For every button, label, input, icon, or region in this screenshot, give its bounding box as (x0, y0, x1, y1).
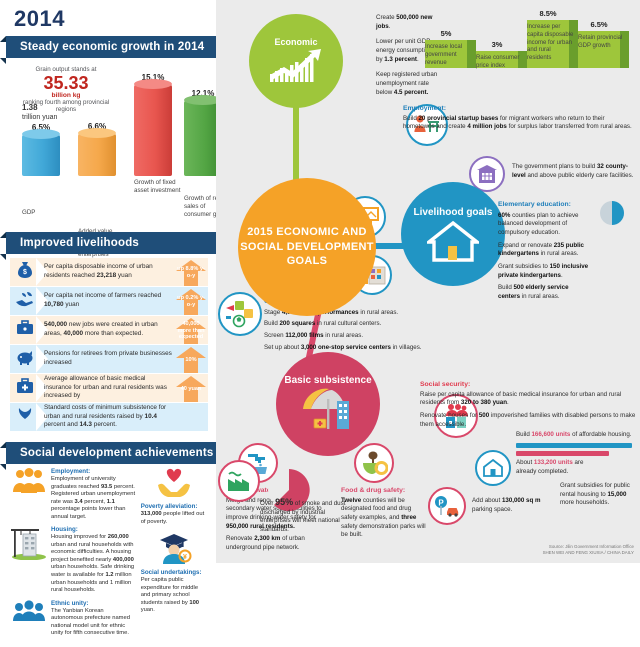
bar-fixed-asset: 15.1% Growth of fixed asset investment (134, 73, 172, 176)
education-point: Grant subsidies to 150 inclusive private… (498, 263, 590, 280)
section-body-social-development: Employment:Employment of university grad… (0, 464, 216, 647)
culture-point: Build 200 squares in rural cultural cent… (264, 320, 484, 329)
culture-point: Set up about 3,000 one-stop service cent… (264, 344, 484, 353)
social-block-heading: Ethnic unity: (51, 600, 137, 608)
node-industry-icon[interactable] (218, 460, 260, 502)
target-bar-gdp: 6.5% Retain provincial GDP growth (578, 31, 620, 68)
node-basic-subsistence[interactable]: Basic subsistence (276, 352, 380, 456)
employment-text: Employment: Build 20 provincial startup … (403, 104, 635, 132)
social-block: ¥Social undertakings:Per capita public e… (141, 532, 208, 615)
culture-health-icon (225, 300, 255, 328)
livelihood-row-text: Pensions for retirees from private busin… (40, 350, 174, 367)
food-drug-heading: Food & drug safety: (341, 487, 405, 494)
heart-hands-icon (141, 468, 208, 503)
parking-text: Add about 130,000 sq m parking space. (472, 497, 548, 514)
source-line: Source: Jilin Government Information Off… (543, 544, 634, 551)
graduate-yuan-icon: ¥ (141, 532, 208, 569)
culture-point: Screen 112,000 films in rural areas. (264, 332, 484, 341)
section-header-social-development: Social development achievements (6, 442, 216, 464)
elderly-care-text: The government plans to build 32 county-… (512, 163, 636, 180)
node-center-goals[interactable]: 2015 ECONOMIC AND SOCIAL DEVELOPMENT GOA… (238, 178, 376, 316)
node-affordable-housing-icon[interactable] (475, 450, 511, 486)
livelihood-arrow: up 8.8% y-o-y (176, 260, 206, 286)
node-parking-icon[interactable]: P (428, 487, 466, 525)
target-bar-income: 8.5% Increase per capita disposable inco… (527, 20, 569, 68)
social-security-point: Raise per capita allowance of basic medi… (420, 391, 636, 408)
growth-arrow-icon (268, 48, 324, 84)
section-body-economic-growth: Grain output stands at 35.33 billion kg … (0, 58, 216, 208)
livelihood-row-text: Per capita net income of farmers reached… (40, 292, 174, 309)
employment-heading: Employment: (403, 105, 446, 112)
family-icon (10, 600, 48, 638)
social-block: Housing:Housing improved for 260,000 urb… (10, 526, 137, 594)
center-node-label: 2015 ECONOMIC AND SOCIAL DEVELOPMENT GOA… (238, 225, 376, 270)
livelihood-row: 540,000 new jobs were created in urban a… (10, 316, 208, 344)
credit-line: SHEN WEI AND FENG XIUXIA / CHINA DAILY (543, 550, 634, 557)
food-safety-icon (360, 451, 388, 475)
livelihood-row-text: Standard costs of minimum subsistence fo… (40, 404, 174, 430)
people-group-icon (10, 468, 48, 521)
construction-crane-icon (10, 526, 48, 594)
target-bar-income-value: 8.5% (527, 9, 569, 18)
bar-gdp-prelabel: 1.38 trillion yuan (22, 103, 60, 122)
social-security-text: Social security: Raise per capita allowa… (420, 380, 636, 433)
svg-text:¥: ¥ (183, 554, 187, 561)
social-blocks-right: Poverty alleviation:313,000 people lifte… (141, 468, 208, 643)
right-panel: Economic Create 500,000 new jobs.Lower p… (216, 0, 640, 563)
node-culture-health-icon[interactable] (218, 292, 262, 336)
node-economic[interactable]: Economic (249, 14, 343, 108)
livelihood-list: $Per capita disposable income of urban r… (10, 258, 208, 431)
social-security-heading: Social security: (420, 381, 470, 388)
livelihood-row: Pensions for retirees from private busin… (10, 345, 208, 373)
factory-icon (226, 470, 252, 492)
node-food-drug-icon[interactable] (354, 443, 394, 483)
social-block-heading: Poverty alleviation: (141, 503, 208, 511)
target-bar-gdp-label: Retain provincial GDP growth (578, 35, 624, 51)
livelihood-arrow: 40,000 more than expected (176, 318, 206, 344)
social-security-point: Renovate houses for 500 impoverished fam… (420, 412, 636, 429)
bar-gdp-label: GDP (22, 209, 70, 217)
livelihood-row: $Per capita disposable income of urban r… (10, 258, 208, 286)
pie-chart-icon (599, 200, 625, 226)
social-block-text: Housing:Housing improved for 260,000 urb… (51, 526, 137, 594)
section-header-economic-growth: Steady economic growth in 2014 (6, 36, 216, 58)
social-block-heading: Social undertakings: (141, 569, 208, 577)
education-point: Expand or renovate 235 public kindergart… (498, 242, 590, 259)
chart-2015-targets: 5% Increase local government revenue 3% … (421, 8, 633, 104)
source-credit: Source: Jilin Government Information Off… (543, 544, 634, 557)
bar-added-value: 6.6% Added value growth of above-scale i… (78, 122, 116, 176)
livelihood-arrow: up 0.2% y-o-y (176, 289, 206, 315)
livelihood-arrow: 40 yuan (176, 376, 206, 402)
livelihood-arrow: 10% (176, 347, 206, 373)
target-bar-cpi-label: Raise consumer price index (476, 55, 522, 71)
livelihood-row-text: Average allowance of basic medical insur… (40, 375, 174, 401)
parking-car-icon: P (434, 495, 460, 517)
social-block-text: Ethnic unity:The Yanbian Korean autonomo… (51, 600, 137, 638)
target-bar-income-label: Increase per capita disposable income fo… (527, 24, 575, 63)
bar-gdp: 1.38 trillion yuan 6.5% GDP (22, 103, 60, 176)
social-block: Ethnic unity:The Yanbian Korean autonomo… (10, 600, 137, 638)
environment-text: Over 95% of smoke and dust discharged by… (260, 496, 346, 535)
education-text: Elementary education: 60% counties plan … (498, 200, 590, 306)
housing-bar-completed (516, 451, 609, 456)
social-block-text: Employment:Employment of university grad… (51, 468, 137, 521)
chart-economic-growth: Grain output stands at 35.33 billion kg … (10, 64, 208, 204)
target-bar-revenue-value: 5% (425, 29, 467, 38)
social-block-heading: Employment: (51, 468, 137, 476)
livelihood-row: Average allowance of basic medical insur… (10, 374, 208, 402)
bar-fixed-asset-label: Growth of fixed asset investment (134, 179, 182, 195)
livelihood-row: Per capita net income of farmers reached… (10, 287, 208, 315)
housing-completed-text: About 133,200 units are already complete… (516, 459, 598, 476)
housing-subsidies-text: Grant subsidies for public rental housin… (560, 482, 634, 508)
page-title: 2014 (0, 0, 216, 36)
house-icon (427, 220, 479, 262)
social-block-text: Poverty alleviation:313,000 people lifte… (141, 503, 208, 526)
svg-text:$: $ (23, 269, 27, 276)
umbrella-shelter-icon (299, 387, 357, 433)
food-drug-text: Food & drug safety: Twelve counties will… (341, 486, 427, 540)
social-blocks-left: Employment:Employment of university grad… (10, 468, 137, 643)
social-block-text: Social undertakings:Per capita public ex… (141, 569, 208, 615)
social-block: Employment:Employment of university grad… (10, 468, 137, 521)
education-point: 60% counties plan to achieve balanced de… (498, 212, 590, 238)
building-icon (476, 164, 498, 184)
livelihood-row: Standard costs of minimum subsistence fo… (10, 403, 208, 431)
left-panel: 2014 Steady economic growth in 2014 Grai… (0, 0, 216, 563)
bar-group: 1.38 trillion yuan 6.5% GDP 6.6% (14, 72, 219, 176)
target-bar-gdp-value: 6.5% (578, 20, 620, 29)
section-header-livelihoods: Improved livelihoods (6, 232, 216, 254)
livelihood-row-text: Per capita disposable income of urban re… (40, 263, 174, 280)
social-block-heading: Housing: (51, 526, 137, 534)
node-livelihood-goals[interactable]: Livelihood goals (401, 182, 505, 286)
housing-bar-build (516, 443, 632, 448)
target-bar-cpi: 3% Raise consumer price index (476, 51, 518, 68)
home-icon (482, 458, 504, 478)
education-heading: Elementary education: (498, 201, 571, 208)
section-body-livelihoods: $Per capita disposable income of urban r… (0, 254, 216, 436)
target-bar-cpi-value: 3% (476, 40, 518, 49)
education-point: Build 500 elderly service centers in rur… (498, 284, 590, 301)
target-bar-revenue-label: Increase local government revenue (425, 44, 471, 67)
livelihood-row-text: 540,000 new jobs were created in urban a… (40, 321, 174, 338)
target-bar-revenue: 5% Increase local government revenue (425, 40, 467, 68)
social-block: Poverty alleviation:313,000 people lifte… (141, 468, 208, 526)
housing-build-text: Build 166,600 units of affordable housin… (516, 431, 634, 440)
